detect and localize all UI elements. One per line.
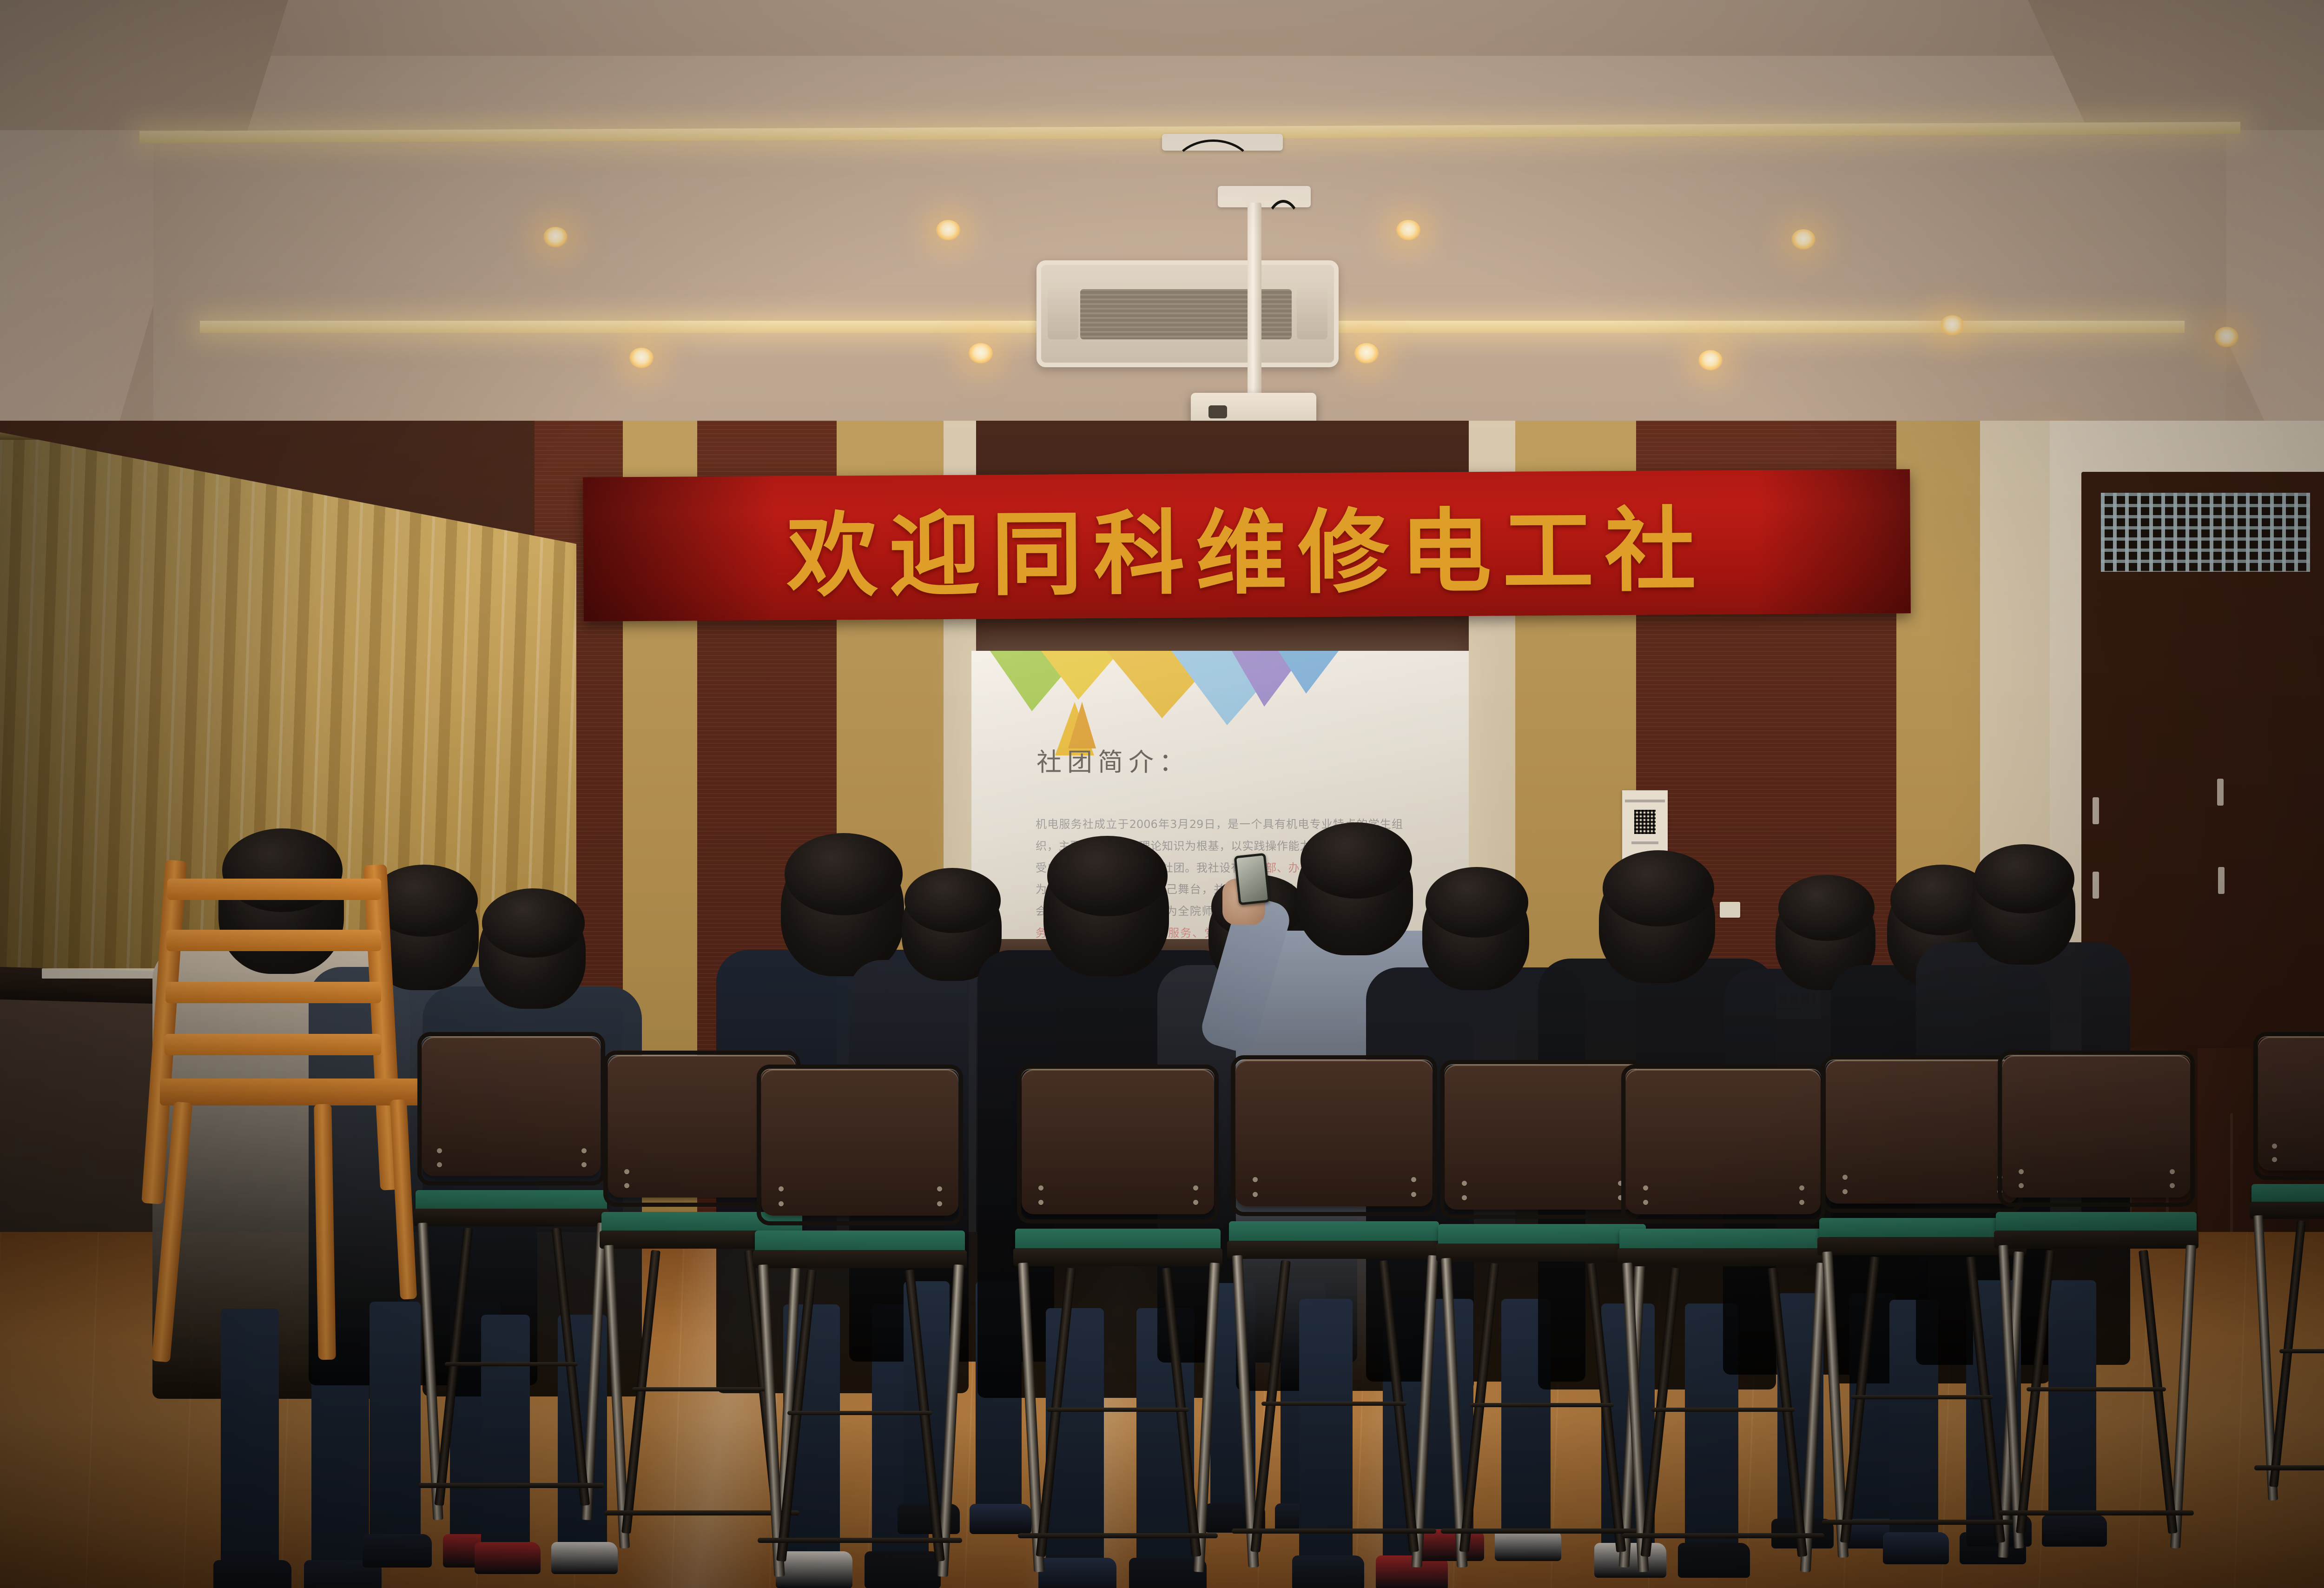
chair-cross-brace bbox=[2027, 1387, 2166, 1391]
person-hair bbox=[1974, 844, 2074, 913]
chair-cross-brace bbox=[1851, 1395, 1993, 1399]
chair-seat-frame bbox=[1436, 1244, 1648, 1262]
smartphone-camera[interactable] bbox=[1234, 853, 1271, 906]
person-leg bbox=[481, 1315, 530, 1552]
qr-code-icon bbox=[1634, 810, 1656, 834]
chair-rivet bbox=[1643, 1200, 1648, 1205]
chair-cross-brace bbox=[1651, 1408, 1795, 1412]
person-hair bbox=[785, 833, 903, 915]
person-hair bbox=[1301, 822, 1412, 899]
banner-shadow-left bbox=[583, 476, 779, 622]
person-shoe bbox=[475, 1542, 541, 1574]
chair-back-frame bbox=[757, 1065, 963, 1225]
chair-rivet bbox=[937, 1186, 942, 1191]
chair-cross-brace bbox=[2279, 1349, 2324, 1353]
person-leg bbox=[2048, 1280, 2097, 1524]
chair-seat-cushion bbox=[1229, 1221, 1439, 1244]
chair-seat-frame bbox=[753, 1250, 967, 1269]
door-handle-left[interactable] bbox=[2093, 797, 2099, 824]
wooden-chair-slat bbox=[165, 982, 381, 1003]
wooden-chair-side-leg bbox=[390, 1099, 417, 1299]
door-handle-right-lower[interactable] bbox=[2218, 867, 2225, 894]
chair-rivet bbox=[1253, 1192, 1258, 1197]
chair-foot-rail bbox=[418, 1483, 604, 1488]
downlight-3 bbox=[1396, 220, 1420, 240]
poster-caption-line bbox=[1631, 841, 1658, 844]
chair-cross-brace bbox=[632, 1387, 771, 1391]
chair-foot-rail bbox=[2254, 1465, 2324, 1470]
wooden-chair-rear-leg bbox=[314, 1104, 336, 1360]
person-hair bbox=[1603, 850, 1714, 926]
person-shoe bbox=[776, 1551, 852, 1588]
person-shoe bbox=[1678, 1543, 1750, 1578]
person-hair bbox=[1426, 867, 1528, 938]
chair-rivet bbox=[2019, 1169, 2024, 1174]
downlight-7 bbox=[1354, 343, 1379, 364]
chair-rivet bbox=[1462, 1181, 1467, 1186]
chair-seat-cushion bbox=[755, 1231, 965, 1253]
chair-rivet bbox=[1193, 1185, 1198, 1191]
wooden-chair-slat bbox=[166, 930, 381, 951]
chair-seat-frame bbox=[1013, 1248, 1222, 1267]
chair-cross-brace bbox=[1047, 1408, 1189, 1412]
wooden-chair-slat bbox=[165, 1034, 381, 1055]
person-shoe bbox=[213, 1560, 291, 1588]
chair-rivet bbox=[1799, 1185, 1804, 1191]
chair-foot-rail bbox=[1822, 1520, 2022, 1525]
chair-seat-frame bbox=[414, 1209, 609, 1226]
chair-rivet bbox=[624, 1169, 629, 1174]
person-shoe bbox=[2042, 1515, 2107, 1547]
chair-seat-cushion bbox=[1438, 1224, 1646, 1246]
chair-seat-frame bbox=[1618, 1248, 1829, 1267]
person-hair bbox=[482, 888, 585, 958]
chair-cross-brace bbox=[445, 1362, 578, 1366]
downlight-6 bbox=[969, 343, 993, 364]
chair-rivet bbox=[1643, 1185, 1648, 1191]
chair-foot-rail bbox=[1232, 1528, 1436, 1534]
person-shoe bbox=[1292, 1555, 1364, 1588]
door-handle-left-lower[interactable] bbox=[2093, 872, 2099, 899]
chair-back-frame bbox=[1998, 1051, 2195, 1207]
chair-rivet bbox=[1411, 1177, 1416, 1182]
projector-cable-loop bbox=[1263, 200, 1303, 275]
chair-rivet bbox=[1038, 1185, 1043, 1191]
chair-back-frame bbox=[1440, 1060, 1644, 1219]
downlight-5 bbox=[629, 348, 654, 368]
projector-lens bbox=[1208, 405, 1227, 418]
ceiling bbox=[0, 0, 2324, 432]
chair-cross-brace bbox=[787, 1411, 933, 1415]
person-leg bbox=[1299, 1299, 1353, 1565]
chair-cross-brace bbox=[1470, 1403, 1614, 1407]
chair-back-frame bbox=[417, 1032, 605, 1185]
person-shoe bbox=[363, 1534, 432, 1568]
person-shoe bbox=[1038, 1558, 1116, 1588]
chair-seat-frame bbox=[1227, 1241, 1441, 1259]
meeting-room-photo: 欢迎同科维修电工社 社团简介： 机电服务社成立于2006年3月29日，是一个具有… bbox=[0, 0, 2324, 1588]
downlight-8 bbox=[1698, 350, 1723, 371]
chair-seat-cushion bbox=[1619, 1229, 1827, 1251]
ceiling-outer-band bbox=[0, 0, 2324, 56]
chair-rivet bbox=[937, 1201, 942, 1206]
person-shoe bbox=[970, 1504, 1031, 1534]
door-transom-window bbox=[2101, 493, 2310, 572]
downlight-2 bbox=[936, 220, 960, 240]
person-hair bbox=[1778, 875, 1874, 941]
person-hair bbox=[905, 868, 1000, 933]
chair-rivet bbox=[1193, 1200, 1198, 1205]
poster-heading-line bbox=[1625, 800, 1665, 802]
banner-shadow-right bbox=[1756, 469, 1911, 614]
downlight-9 bbox=[1940, 315, 1964, 336]
chair-cross-brace bbox=[1261, 1402, 1407, 1406]
chair-rivet bbox=[779, 1201, 784, 1206]
chair-back-frame bbox=[1621, 1065, 1825, 1224]
chair-seat-cushion bbox=[1015, 1229, 1221, 1251]
chair-seat-frame bbox=[1994, 1231, 2199, 1249]
chair-rivet bbox=[1462, 1195, 1467, 1200]
person-shoe bbox=[865, 1551, 941, 1588]
chair-foot-rail bbox=[1018, 1533, 1218, 1538]
projector-cable bbox=[1171, 139, 1255, 205]
chair-foot-rail bbox=[1441, 1528, 1643, 1534]
banner-text: 欢迎同科维修电工社 bbox=[583, 469, 1911, 621]
wall-power-outlet[interactable] bbox=[1720, 902, 1740, 918]
person-shoe bbox=[551, 1542, 618, 1574]
chair-rivet bbox=[1038, 1200, 1043, 1205]
chair-back-frame bbox=[1017, 1065, 1219, 1224]
lattice-grille-icon bbox=[2101, 493, 2310, 572]
ac-vent-left-louver bbox=[1048, 288, 1078, 339]
projector-pole bbox=[1248, 203, 1261, 398]
wooden-chair-slat bbox=[167, 879, 381, 900]
chair-foot-rail bbox=[1622, 1533, 1824, 1538]
wooden-chair-seat bbox=[160, 1079, 420, 1105]
chair-foot-rail bbox=[1999, 1510, 2194, 1515]
downlight-10 bbox=[2214, 327, 2238, 347]
chair-foot-rail bbox=[604, 1510, 799, 1515]
air-conditioner-vent bbox=[1037, 260, 1339, 367]
chair-back-frame bbox=[1231, 1055, 1437, 1216]
person-hair bbox=[1047, 836, 1168, 917]
door-handle-right[interactable] bbox=[2217, 779, 2224, 806]
welcome-banner: 欢迎同科维修电工社 bbox=[583, 469, 1911, 621]
downlight-4 bbox=[1791, 229, 1816, 250]
chair-back-frame bbox=[2253, 1032, 2324, 1180]
person-shoe bbox=[1883, 1532, 1949, 1564]
chair-foot-rail bbox=[758, 1538, 962, 1543]
ac-vent-right-louver bbox=[1297, 288, 1327, 339]
chair-rivet bbox=[1411, 1192, 1416, 1197]
wooden-chair[interactable] bbox=[153, 860, 432, 1427]
chair-back-frame bbox=[1821, 1055, 2023, 1213]
downlight-1 bbox=[543, 227, 568, 247]
